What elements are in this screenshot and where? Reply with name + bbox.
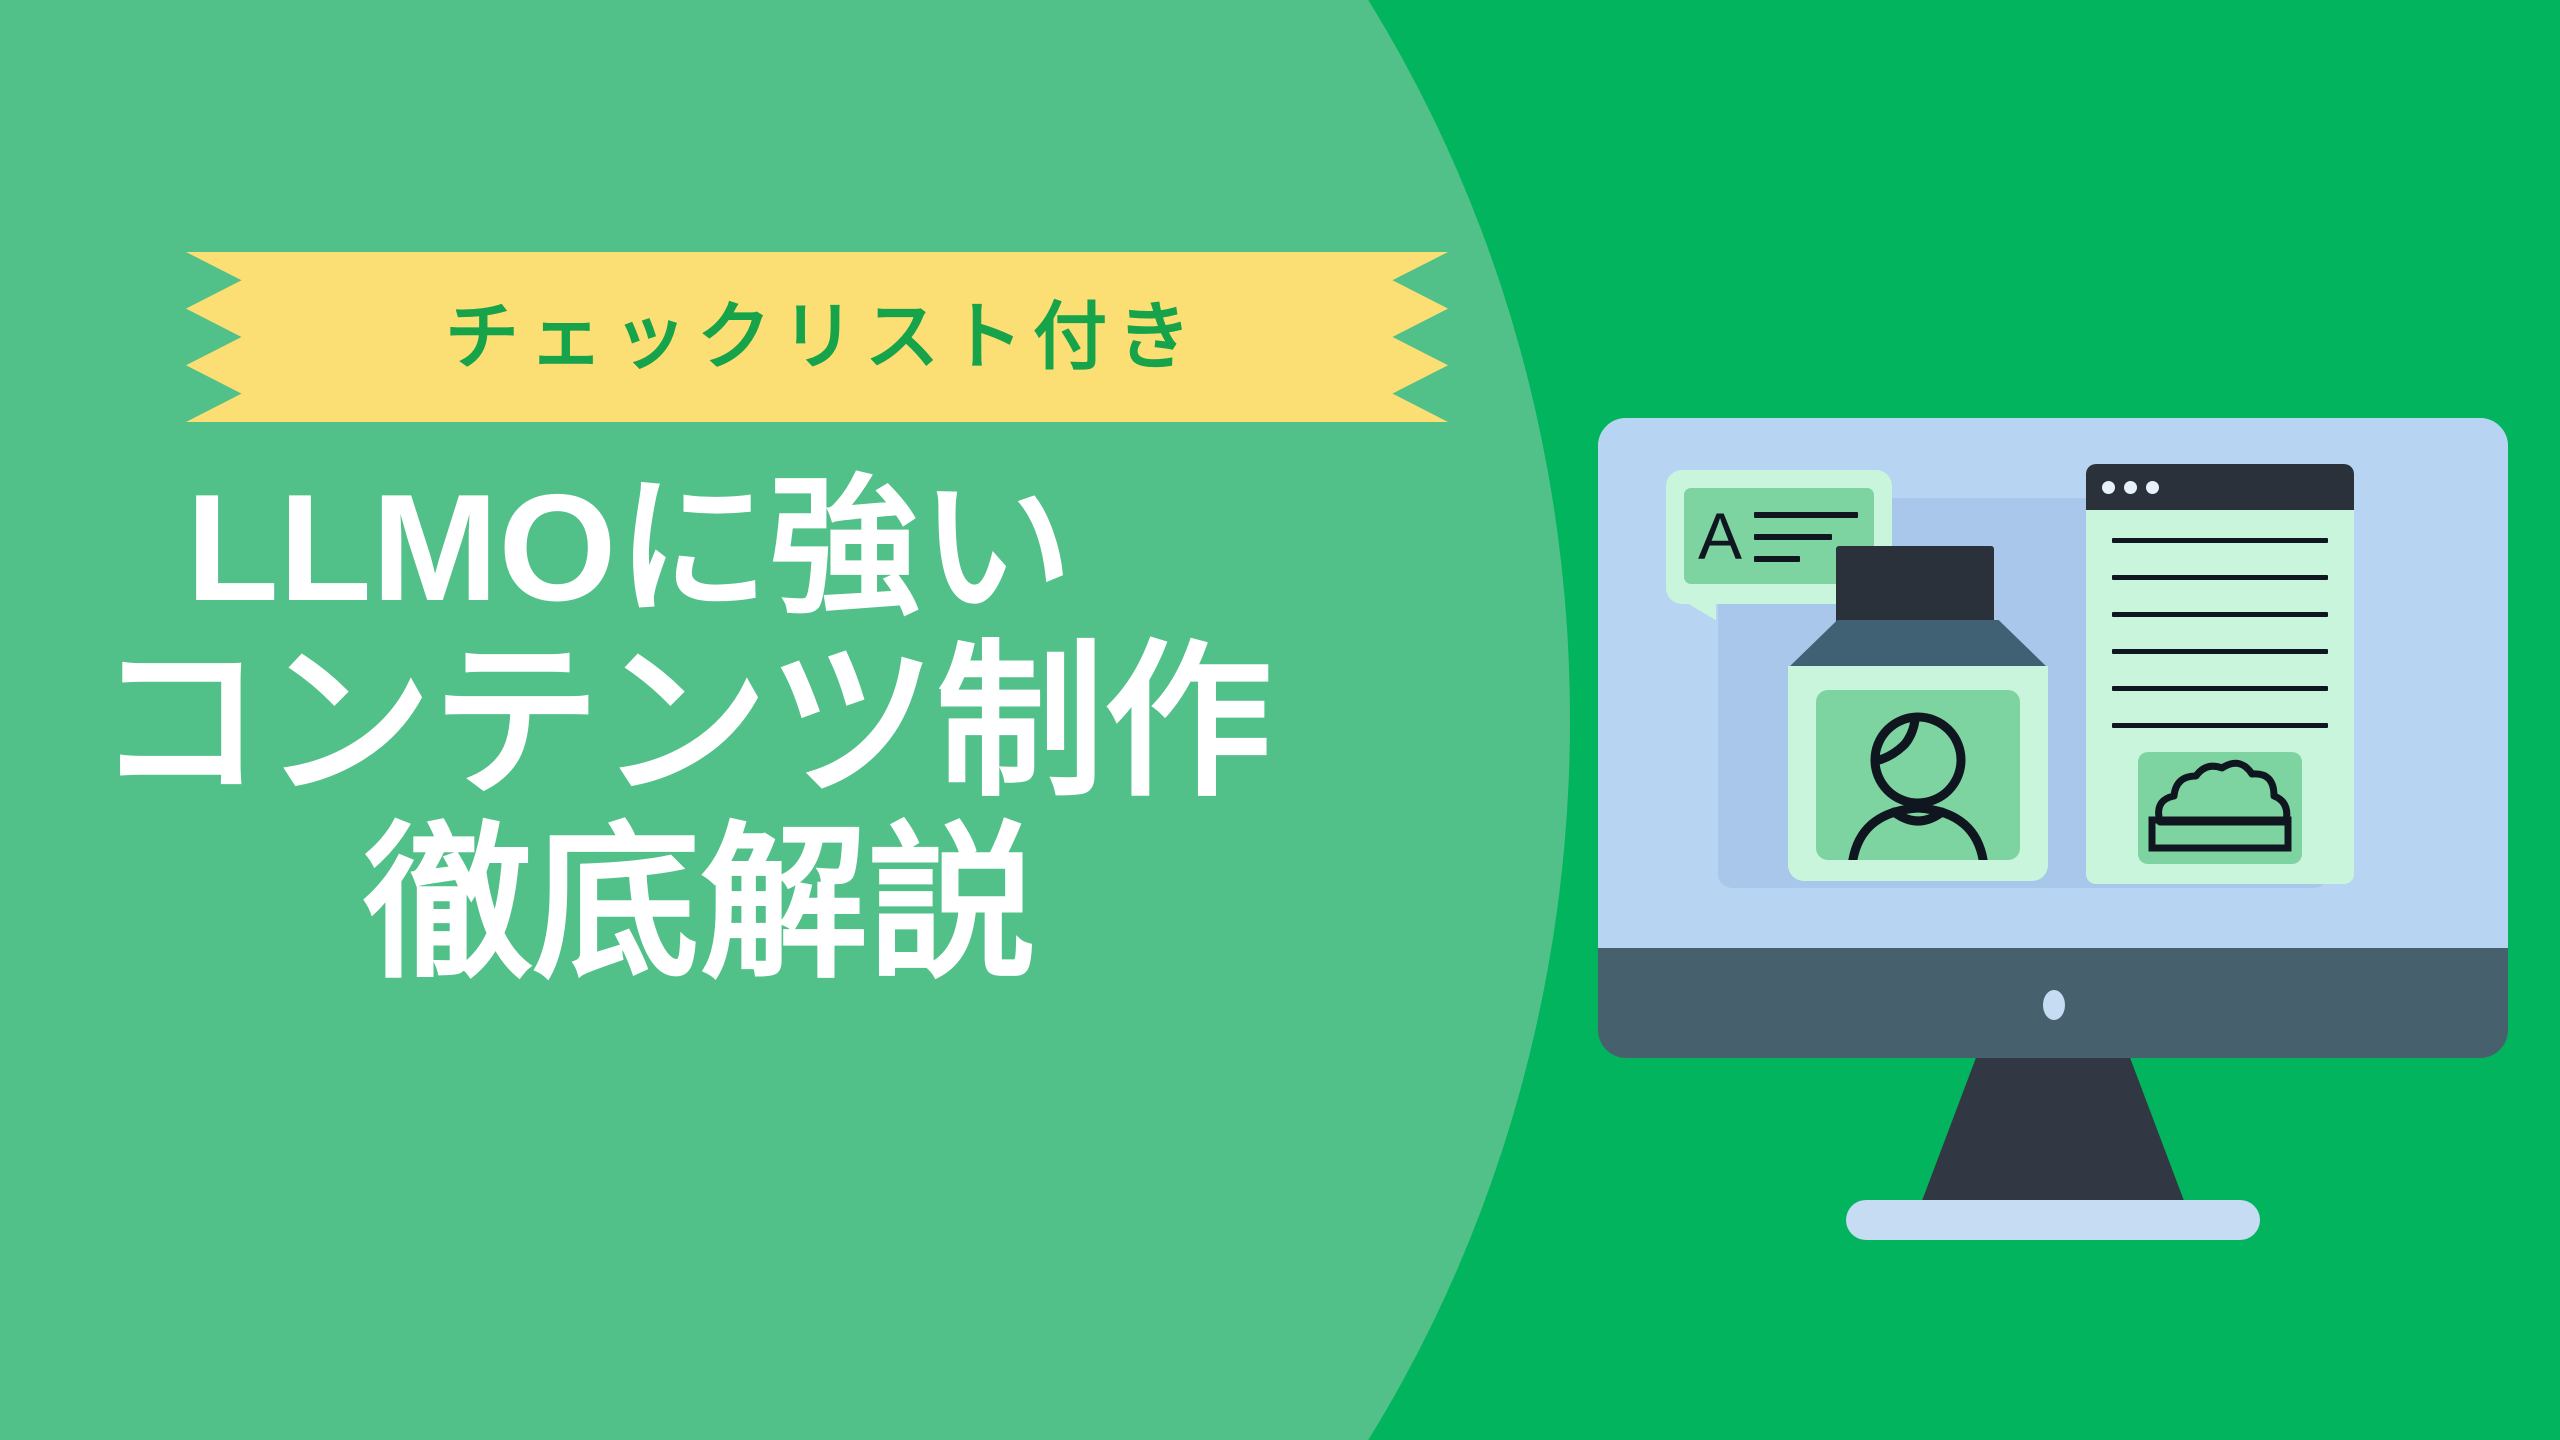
cloud-landscape-icon (2138, 752, 2302, 864)
browser-image-frame (2138, 752, 2302, 864)
headline-line-1: LLMOに強い (96, 472, 1576, 624)
headline-line-3: 徹底解説 (96, 820, 1576, 988)
headline-line-2: コンテンツ制作 (96, 638, 1576, 806)
text-line-icon (1754, 534, 1832, 540)
monitor-stand-neck (1920, 1058, 2186, 1206)
browser-titlebar (2086, 464, 2354, 510)
monitor-screen: A (1598, 418, 2508, 948)
monitor-stand-base (1846, 1200, 2260, 1240)
traffic-light-dot-icon (2146, 481, 2159, 494)
text-line-icon (2112, 649, 2328, 654)
person-avatar-icon (1816, 690, 2020, 860)
avatar-photo-frame (1816, 690, 2020, 860)
ribbon-shape: チェックリスト付き (186, 252, 1448, 422)
text-line-icon (2112, 575, 2328, 580)
card-header-block (1836, 546, 1994, 622)
text-line-icon (2112, 723, 2328, 728)
text-line-icon (2112, 612, 2328, 617)
poster-canvas: チェックリスト付き LLMOに強い コンテンツ制作 徹底解説 A (0, 0, 2560, 1440)
avatar-card (1788, 546, 2048, 881)
ribbon-label: チェックリスト付き (433, 300, 1201, 374)
card-shoulder-shape (1788, 620, 2048, 668)
power-led-icon (2043, 990, 2065, 1020)
text-line-icon (2112, 686, 2328, 691)
checklist-ribbon-banner: チェックリスト付き (186, 252, 1448, 422)
browser-window (2086, 464, 2354, 884)
card-body (1788, 666, 2048, 881)
page-title: LLMOに強い コンテンツ制作 徹底解説 (96, 472, 1576, 988)
monitor-illustration: A (1598, 418, 2508, 1228)
traffic-light-dot-icon (2102, 481, 2115, 494)
letter-a-icon: A (1698, 496, 1742, 576)
text-line-icon (2112, 538, 2328, 543)
text-line-icon (1754, 512, 1858, 518)
traffic-light-dot-icon (2124, 481, 2137, 494)
